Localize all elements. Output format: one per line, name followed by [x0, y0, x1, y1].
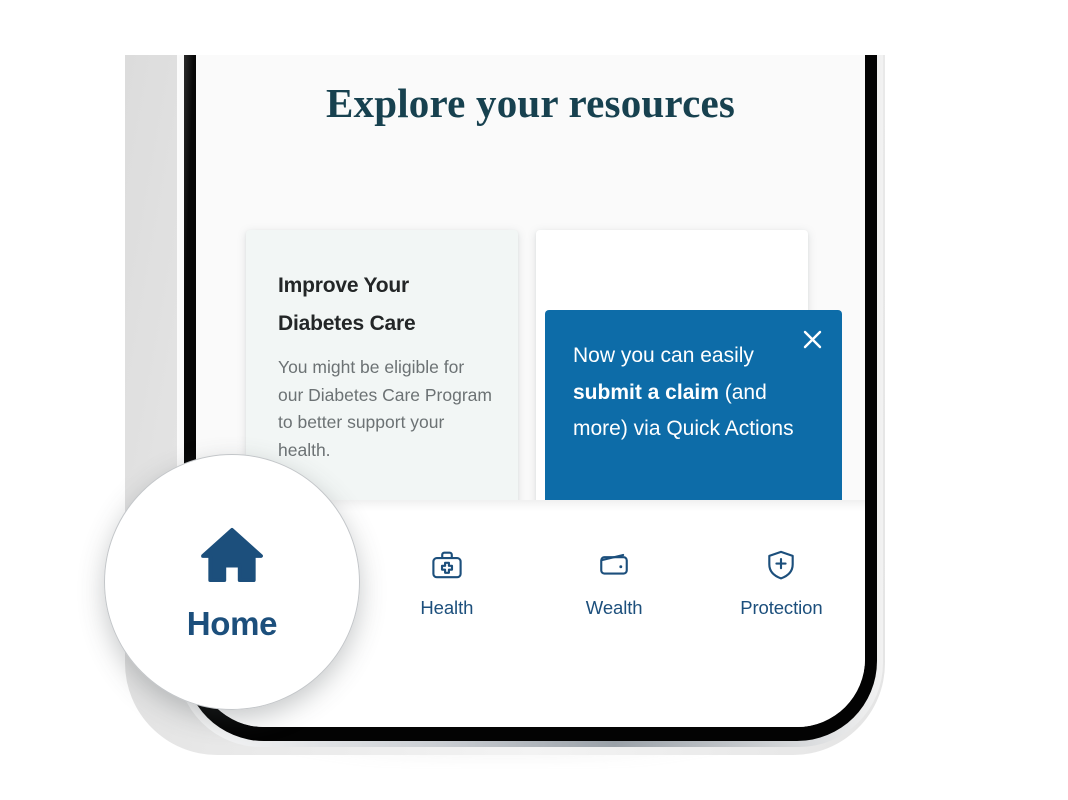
magnifier-home-callout[interactable]: Home: [104, 454, 360, 710]
resource-card-rail[interactable]: Improve Your Diabetes Care You might be …: [196, 174, 865, 500]
nav-item-protection[interactable]: Protection: [698, 548, 865, 619]
screenshot-stage: Explore your resources Improve Your Diab…: [0, 0, 1068, 800]
close-icon: [802, 329, 823, 350]
tooltip-close-button[interactable]: [795, 322, 829, 356]
quick-actions-tooltip: Now you can easily submit a claim (and m…: [545, 310, 842, 515]
shield-plus-icon: [764, 548, 798, 582]
tooltip-text-emphasis: submit a claim: [573, 381, 719, 404]
page-title: Explore your resources: [196, 77, 865, 129]
magnifier-label-home: Home: [187, 605, 278, 643]
home-icon: [201, 527, 263, 583]
medical-bag-icon: [430, 548, 464, 582]
card-title: Improve Your Diabetes Care: [278, 267, 493, 343]
card-body: You might be eligible for our Diabetes C…: [278, 354, 493, 464]
nav-label-health: Health: [420, 597, 473, 619]
nav-label-wealth: Wealth: [586, 597, 643, 619]
tooltip-text: Now you can easily submit a claim (and m…: [573, 338, 818, 448]
nav-item-wealth[interactable]: Wealth: [531, 548, 698, 619]
tooltip-text-line1: Now you can easily: [573, 344, 754, 367]
nav-item-health[interactable]: Health: [363, 548, 530, 619]
wallet-icon: [597, 548, 631, 582]
nav-label-protection: Protection: [740, 597, 822, 619]
